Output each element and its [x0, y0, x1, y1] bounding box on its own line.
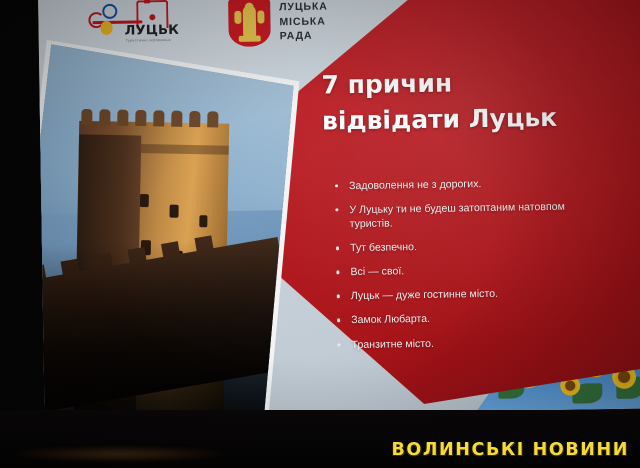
list-item: Тут безпечно.: [332, 238, 594, 256]
news-outlet-watermark: ВОЛИНСЬКІ НОВИНИ: [391, 440, 629, 460]
city-council-label: ЛУЦЬКА МІСЬКА РАДА: [279, 0, 328, 45]
list-item: Луцьк — дуже гостинне місто.: [333, 286, 595, 304]
luck-wordmark: ЛУЦЬК: [124, 23, 179, 39]
lubart-castle-tower-photo: [38, 36, 305, 418]
luck-city-council-emblem: ЛУЦЬКА МІСЬКА РАДА: [228, 0, 328, 47]
logo-row: ЛУЦЬК Туристична інформація ЛУЦЬКА МІСЬК…: [86, 0, 328, 53]
photograph-of-projected-slide: ЛУЦЬК Туристична інформація ЛУЦЬКА МІСЬК…: [0, 0, 640, 468]
list-item: Транзитне місто.: [333, 334, 595, 352]
list-item: Замок Любарта.: [333, 310, 595, 328]
slide-headline: 7 причин відвідати Луцьк: [321, 63, 612, 139]
tower-dot-icon: [149, 14, 155, 20]
projection-screen: ЛУЦЬК Туристична інформація ЛУЦЬКА МІСЬК…: [38, 0, 640, 418]
list-item: У Луцьку ти не будеш затоптаним натовпом…: [331, 199, 593, 231]
headline-line-1: 7 причин: [321, 63, 612, 103]
list-item: Задоволення не з дорогих.: [331, 175, 593, 193]
luck-wordmark-subtitle: Туристична інформація: [126, 38, 171, 43]
reasons-bullet-list: Задоволення не з дорогих. У Луцьку ти не…: [331, 175, 596, 362]
luck-city-brand-logo: ЛУЦЬК Туристична інформація: [86, 0, 183, 53]
headline-line-2: відвідати Луцьк: [322, 99, 613, 139]
list-item: Всі — свої.: [332, 262, 594, 280]
coat-of-arms-shield-icon: [228, 0, 271, 47]
